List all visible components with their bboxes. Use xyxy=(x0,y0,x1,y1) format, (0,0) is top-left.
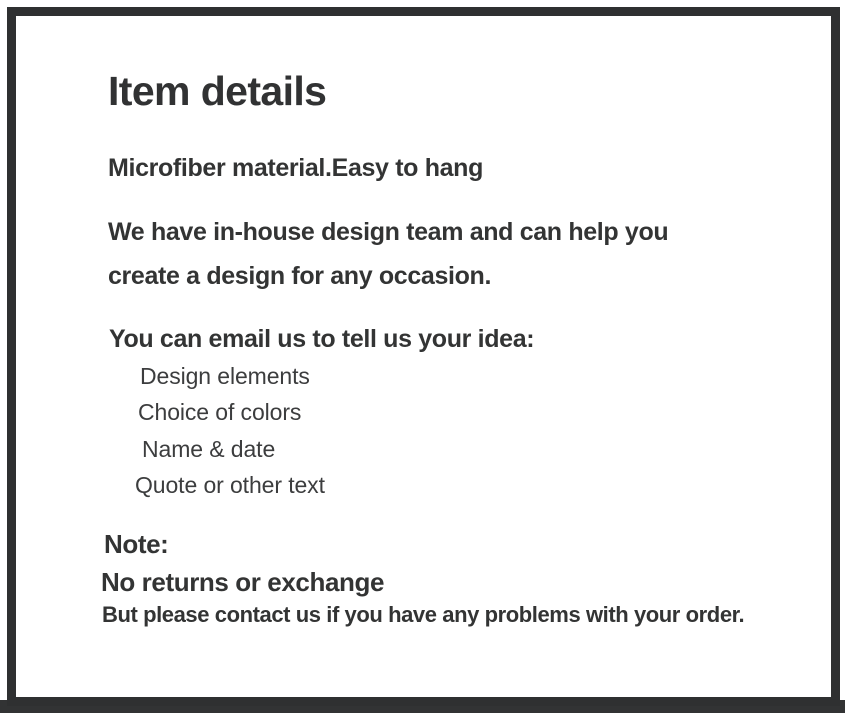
list-item: Quote or other text xyxy=(135,472,325,499)
item-details-card: Item details Microfiber material.Easy to… xyxy=(7,7,840,706)
note-line-2: But please contact us if you have any pr… xyxy=(102,602,744,628)
product-tagline: Microfiber material.Easy to hang xyxy=(108,154,483,183)
card-content: Item details Microfiber material.Easy to… xyxy=(16,16,849,715)
description-line-1: We have in-house design team and can hel… xyxy=(108,218,668,247)
list-item: Design elements xyxy=(140,363,310,390)
list-item: Name & date xyxy=(142,436,275,463)
description-line-2: create a design for any occasion. xyxy=(108,262,491,291)
email-instructions-heading: You can email us to tell us your idea: xyxy=(109,325,534,354)
list-item: Choice of colors xyxy=(138,399,301,426)
note-line-1: No returns or exchange xyxy=(101,567,384,598)
page-title: Item details xyxy=(108,68,326,115)
note-label: Note: xyxy=(104,529,168,560)
